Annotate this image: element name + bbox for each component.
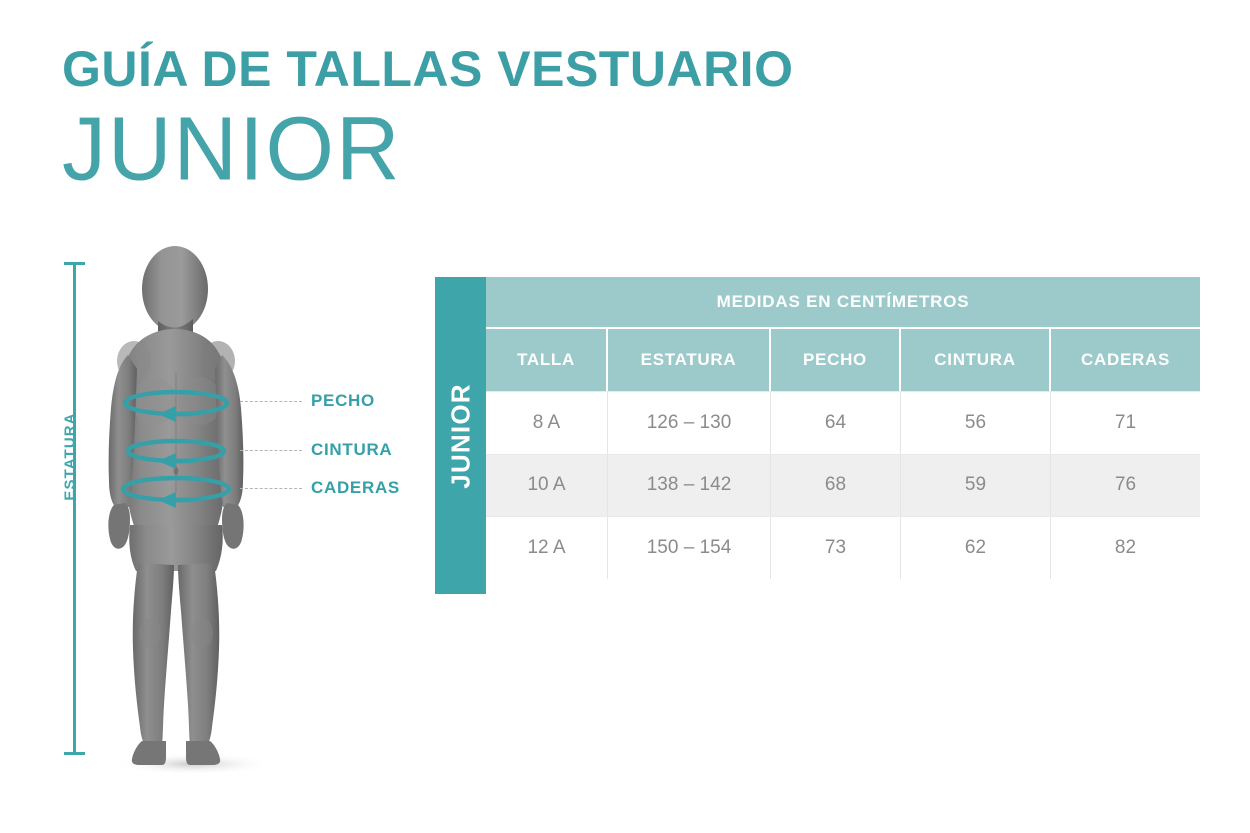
cell-talla: 12 A: [486, 517, 608, 579]
cell-caderas: 76: [1051, 455, 1200, 517]
estatura-measure-bar: ESTATURA: [40, 258, 100, 763]
figure-chest-right: [178, 377, 222, 425]
column-header-estatura: ESTATURA: [608, 329, 771, 391]
leader-line-cintura: [240, 450, 302, 451]
figure-knee-left: [139, 618, 161, 648]
table-row: 10 A 138 – 142 68 59 76: [486, 454, 1200, 517]
cell-estatura: 138 – 142: [608, 455, 771, 517]
callout-label-cintura: CINTURA: [311, 440, 392, 460]
cell-cintura: 59: [901, 455, 1051, 517]
title-block: GUÍA DE TALLAS VESTUARIO JUNIOR: [62, 44, 962, 194]
figure-leg-left: [133, 563, 174, 746]
table-category-sidebar: JUNIOR: [435, 277, 486, 594]
callout-pecho: PECHO: [240, 391, 375, 411]
mannequin-figure: [96, 243, 296, 773]
cell-cintura: 56: [901, 392, 1051, 454]
figure-foot-right: [186, 741, 220, 765]
cell-estatura: 126 – 130: [608, 392, 771, 454]
cell-talla: 8 A: [486, 392, 608, 454]
estatura-cap-top: [64, 262, 85, 265]
column-header-talla: TALLA: [486, 329, 608, 391]
cell-talla: 10 A: [486, 455, 608, 517]
callout-label-caderas: CADERAS: [311, 478, 400, 498]
cell-cintura: 62: [901, 517, 1051, 579]
cell-pecho: 73: [771, 517, 901, 579]
callout-caderas: CADERAS: [240, 478, 400, 498]
cell-pecho: 64: [771, 392, 901, 454]
figure-head: [142, 246, 208, 332]
callout-cintura: CINTURA: [240, 440, 392, 460]
callout-label-pecho: PECHO: [311, 391, 375, 411]
column-header-pecho: PECHO: [771, 329, 901, 391]
figure-foot-left: [132, 741, 166, 765]
size-table: JUNIOR MEDIDAS EN CENTÍMETROS TALLA ESTA…: [435, 277, 1200, 594]
table-row: 12 A 150 – 154 73 62 82: [486, 516, 1200, 579]
cell-estatura: 150 – 154: [608, 517, 771, 579]
leader-line-pecho: [240, 401, 302, 402]
table-units-header: MEDIDAS EN CENTÍMETROS: [486, 277, 1200, 327]
cell-caderas: 82: [1051, 517, 1200, 579]
figure-hand-left: [108, 503, 130, 549]
figure-hand-right: [222, 503, 244, 549]
estatura-label: ESTATURA: [62, 397, 79, 517]
leader-line-caderas: [240, 488, 302, 489]
figure-leg-right: [178, 563, 219, 746]
cell-caderas: 71: [1051, 392, 1200, 454]
table-body: MEDIDAS EN CENTÍMETROS TALLA ESTATURA PE…: [486, 277, 1200, 594]
figure-knee-right: [191, 618, 213, 648]
estatura-cap-bottom: [64, 752, 85, 755]
page-subtitle: JUNIOR: [62, 102, 962, 196]
table-column-header-row: TALLA ESTATURA PECHO CINTURA CADERAS: [486, 327, 1200, 391]
page-title: GUÍA DE TALLAS VESTUARIO: [62, 44, 962, 94]
column-header-cintura: CINTURA: [901, 329, 1051, 391]
column-header-caderas: CADERAS: [1051, 329, 1200, 391]
cell-pecho: 68: [771, 455, 901, 517]
table-category-label: JUNIOR: [445, 383, 476, 488]
table-row: 8 A 126 – 130 64 56 71: [486, 391, 1200, 454]
